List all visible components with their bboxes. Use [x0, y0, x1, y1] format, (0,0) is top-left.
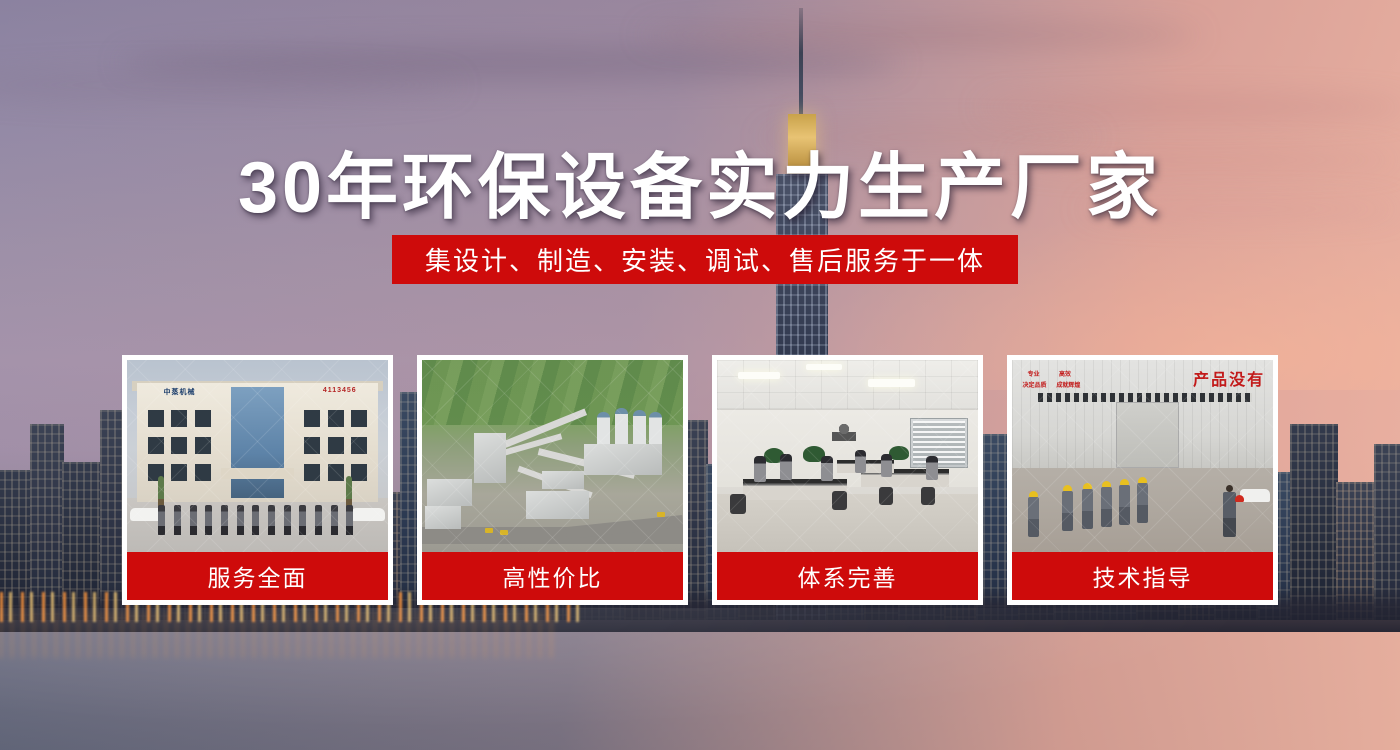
page-title: 30年环保设备实力生产厂家	[0, 128, 1400, 233]
factory-small-sign-3: 决定品质	[1022, 383, 1046, 390]
building-sign-text: 中蒸机械	[164, 387, 196, 397]
subtitle-text: 集设计、制造、安装、调试、售后服务于一体	[425, 241, 985, 278]
card-photo-factory-workers: 产品没有 专业 高效 决定品质 成就辉煌	[1012, 360, 1273, 552]
factory-small-sign-4: 成就辉煌	[1056, 383, 1080, 390]
feature-card-service[interactable]: 中蒸机械 4113456	[122, 355, 393, 605]
feature-card-system[interactable]: 体系完善	[712, 355, 983, 605]
factory-small-sign-2: 高效	[1059, 372, 1071, 379]
feature-card-row: 中蒸机械 4113456	[122, 355, 1278, 605]
subtitle-banner: 集设计、制造、安装、调试、售后服务于一体	[392, 235, 1018, 284]
cloud-band	[980, 96, 1400, 118]
card-caption-service: 服务全面	[127, 552, 388, 600]
card-photo-office-building: 中蒸机械 4113456	[127, 360, 388, 552]
card-photo-office-interior	[717, 360, 978, 552]
cloud-band	[640, 22, 1200, 48]
banner-stage: 30年环保设备实力生产厂家 集设计、制造、安装、调试、售后服务于一体	[0, 0, 1400, 750]
card-caption-system: 体系完善	[717, 552, 978, 600]
factory-big-sign: 产品没有	[1193, 366, 1265, 390]
card-caption-value: 高性价比	[422, 552, 683, 600]
water-sheen	[0, 608, 1400, 750]
tower-spire	[799, 8, 803, 120]
feature-card-value[interactable]: 高性价比	[417, 355, 688, 605]
building-phone-text: 4113456	[323, 387, 357, 394]
factory-small-sign-1: 专业	[1028, 372, 1040, 379]
card-photo-industrial-plant	[422, 360, 683, 552]
feature-card-guidance[interactable]: 产品没有 专业 高效 决定品质 成就辉煌	[1007, 355, 1278, 605]
card-caption-guidance: 技术指导	[1012, 552, 1273, 600]
